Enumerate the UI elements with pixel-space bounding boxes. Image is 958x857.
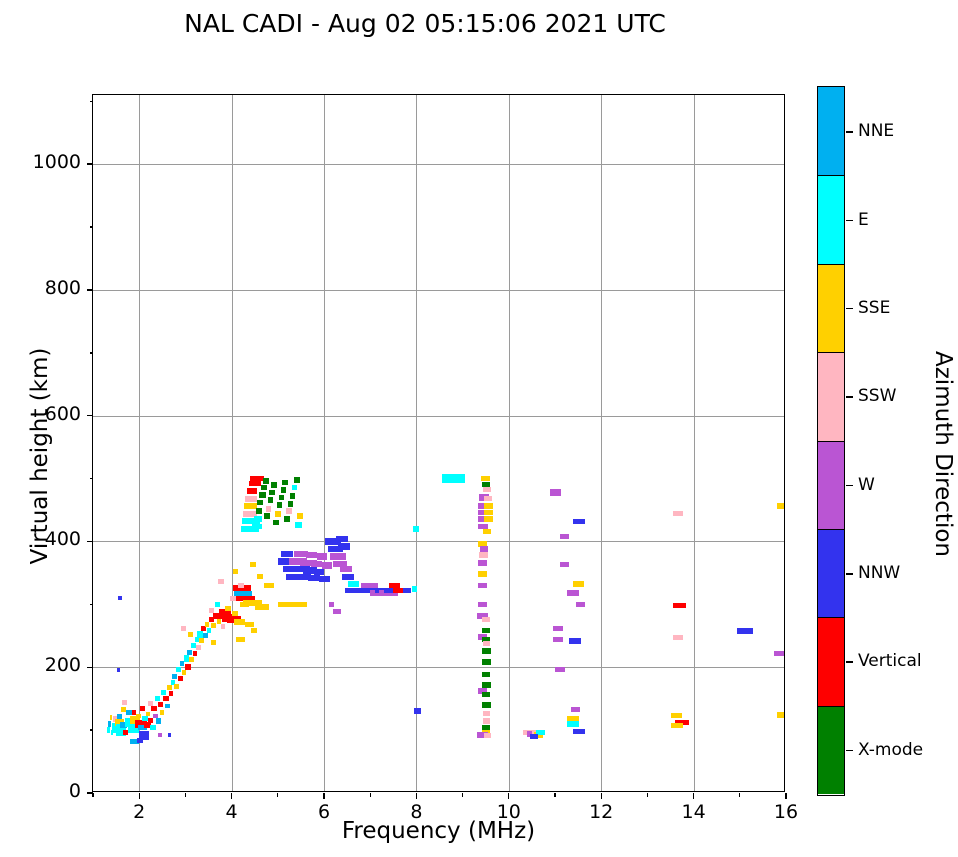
echo-mark — [266, 506, 272, 512]
x-tick-minor — [739, 793, 740, 797]
y-tick-minor — [90, 352, 94, 353]
echo-mark — [245, 622, 253, 627]
echo-mark — [333, 609, 340, 614]
x-tick-minor — [462, 793, 463, 797]
y-tick-minor — [90, 729, 94, 730]
echo-mark — [215, 602, 220, 607]
echo-mark — [232, 611, 238, 616]
echo-mark — [108, 721, 111, 727]
echo-mark — [567, 590, 579, 597]
echo-mark — [530, 734, 538, 740]
echo-mark — [255, 604, 269, 610]
echo-mark — [484, 733, 491, 738]
colorbar-divider — [818, 529, 844, 530]
colorbar-label: Azimuth Direction — [930, 294, 956, 614]
echo-mark — [281, 551, 293, 557]
echo-mark — [478, 560, 486, 566]
echo-mark — [444, 474, 462, 482]
y-tick-label: 0 — [11, 780, 81, 802]
echo-mark — [576, 602, 585, 607]
echo-mark — [567, 721, 579, 727]
echo-mark — [671, 713, 682, 718]
y-tick — [87, 163, 93, 164]
echo-mark — [233, 569, 239, 574]
ionogram-page: NAL CADI - Aug 02 05:15:06 2021 UTC 2468… — [0, 0, 958, 857]
echo-mark — [573, 729, 584, 734]
echo-mark — [160, 710, 165, 714]
echo-mark — [273, 520, 279, 526]
colorbar-label-sse: SSE — [858, 298, 890, 318]
echo-mark — [483, 529, 491, 535]
colorbar-tick — [846, 573, 853, 575]
page-title: NAL CADI - Aug 02 05:15:06 2021 UTC — [0, 9, 850, 38]
echo-mark — [403, 588, 411, 594]
colorbar-label-nnw: NNW — [858, 563, 900, 583]
echo-mark — [282, 480, 288, 486]
echo-mark — [156, 718, 162, 724]
echo-mark — [163, 696, 169, 701]
x-tick-minor — [554, 793, 555, 797]
x-tick — [231, 793, 232, 799]
x-tick — [601, 793, 602, 799]
echo-mark — [191, 643, 196, 648]
echo-mark — [774, 651, 784, 657]
echo-mark — [221, 624, 226, 629]
echo-mark — [480, 546, 488, 552]
y-axis-label: Virtual height (km) — [27, 296, 53, 616]
echo-mark — [117, 714, 122, 719]
echo-mark — [247, 488, 257, 494]
echo-mark — [238, 583, 244, 588]
echo-mark — [482, 659, 491, 665]
plot-area: 24681012141602004006008001000 — [92, 94, 785, 792]
echo-mark — [673, 635, 683, 640]
echo-mark — [482, 682, 491, 688]
colorbar-segment-vertical — [818, 617, 844, 705]
y-tick-label: 1000 — [11, 151, 81, 173]
x-axis-label: Frequency (MHz) — [92, 818, 785, 844]
echo-mark — [338, 543, 350, 549]
echo-mark — [176, 667, 181, 672]
y-tick — [87, 541, 93, 542]
colorbar-segment-nne — [818, 87, 844, 175]
y-tick — [87, 667, 93, 668]
echo-mark — [185, 664, 191, 670]
echo-mark — [158, 733, 163, 737]
colorbar-divider — [818, 352, 844, 353]
echo-mark — [478, 571, 486, 577]
colorbar-label-x-mode: X-mode — [858, 740, 923, 760]
echo-mark — [673, 511, 683, 516]
echo-mark — [264, 583, 274, 588]
colorbar-label-w: W — [858, 475, 875, 495]
echo-mark — [314, 569, 324, 575]
echo-mark — [205, 622, 210, 627]
echo-mark — [340, 566, 352, 572]
echo-mark — [737, 628, 753, 634]
colorbar-tick — [846, 661, 853, 663]
colorbar-divider — [818, 617, 844, 618]
echo-mark — [261, 485, 267, 491]
echo-mark — [188, 632, 194, 637]
echo-mark — [118, 596, 121, 600]
echo-mark — [271, 482, 277, 488]
echo-mark — [483, 711, 490, 716]
echo-mark — [482, 628, 490, 633]
x-tick — [139, 793, 140, 799]
colorbar-tick — [846, 396, 853, 398]
echo-mark — [295, 522, 301, 528]
echo-mark — [336, 536, 348, 542]
echo-mark — [168, 733, 171, 737]
echo-mark — [178, 676, 183, 681]
y-tick-minor — [90, 226, 94, 227]
echo-mark — [484, 516, 493, 522]
echo-mark — [281, 487, 287, 493]
echo-mark — [671, 723, 682, 728]
echo-mark — [278, 602, 292, 608]
echo-mark — [413, 526, 419, 532]
colorbar-divider — [818, 441, 844, 442]
echo-mark — [294, 477, 300, 483]
echo-mark — [483, 718, 490, 724]
echo-mark — [484, 496, 492, 501]
echo-mark — [329, 602, 335, 607]
y-tick-minor — [90, 101, 94, 102]
x-tick-minor — [277, 793, 278, 797]
echo-mark — [571, 707, 580, 712]
echo-mark — [319, 576, 329, 582]
colorbar-segment-ssw — [818, 352, 844, 440]
echo-mark — [777, 712, 784, 718]
echo-mark — [482, 617, 490, 622]
colorbar-tick — [846, 308, 853, 310]
echo-scatter-canvas — [93, 95, 784, 791]
echo-mark — [288, 501, 294, 507]
x-tick — [416, 793, 417, 799]
y-tick-minor — [90, 604, 94, 605]
echo-mark — [478, 583, 486, 589]
colorbar-segment-x-mode — [818, 706, 844, 794]
x-tick — [785, 793, 786, 799]
echo-mark — [284, 516, 290, 522]
echo-mark — [110, 715, 113, 721]
echo-mark — [199, 638, 204, 643]
echo-mark — [268, 497, 274, 503]
echo-mark — [244, 503, 257, 509]
echo-mark — [484, 510, 493, 516]
echo-mark — [189, 657, 194, 662]
y-tick — [87, 289, 93, 290]
echo-mark — [317, 553, 327, 559]
echo-mark — [482, 648, 491, 654]
colorbar-segment-nnw — [818, 529, 844, 617]
echo-mark — [203, 633, 208, 638]
echo-mark — [322, 562, 332, 568]
x-tick-minor — [370, 793, 371, 797]
echo-mark — [483, 641, 490, 646]
echo-mark — [155, 696, 160, 701]
echo-mark — [158, 702, 164, 707]
colorbar-segment-e — [818, 175, 844, 263]
colorbar-divider — [818, 175, 844, 176]
echo-mark — [256, 508, 262, 514]
echo-mark — [236, 637, 244, 642]
echo-mark — [151, 706, 157, 711]
echo-mark — [292, 602, 308, 608]
colorbar-divider — [818, 264, 844, 265]
echo-mark — [553, 637, 563, 642]
echo-mark — [250, 562, 256, 567]
echo-mark — [479, 552, 487, 558]
echo-mark — [483, 487, 491, 492]
echo-mark — [482, 672, 490, 677]
echo-mark — [560, 534, 569, 539]
echo-mark — [330, 553, 346, 559]
colorbar-segment-sse — [818, 264, 844, 352]
echo-mark — [348, 581, 359, 587]
echo-mark — [234, 619, 245, 625]
x-tick-minor — [185, 793, 186, 797]
echo-mark — [777, 503, 784, 509]
echo-mark — [211, 623, 216, 628]
echo-mark — [342, 574, 354, 580]
echo-mark — [553, 626, 563, 631]
echo-mark — [137, 738, 143, 743]
x-tick-minor — [647, 793, 648, 797]
echo-mark — [573, 519, 584, 524]
echo-mark — [275, 511, 281, 517]
echo-mark — [218, 579, 224, 584]
echo-mark — [117, 668, 120, 672]
colorbar-divider — [818, 706, 844, 707]
echo-mark — [569, 638, 581, 644]
echo-mark — [297, 513, 303, 519]
echo-mark — [478, 602, 486, 608]
y-tick — [87, 792, 93, 793]
echo-mark — [277, 502, 283, 508]
azimuth-colorbar: NNEESSESSWWNNWVerticalX-mode — [817, 86, 845, 796]
echo-mark — [187, 650, 192, 655]
echo-mark — [279, 495, 285, 501]
echo-mark — [482, 692, 490, 697]
echo-mark — [250, 476, 264, 482]
echo-mark — [136, 714, 141, 718]
echo-mark — [252, 524, 262, 530]
echo-mark — [161, 690, 166, 695]
echo-mark — [122, 700, 128, 705]
colorbar-tick — [846, 750, 853, 752]
echo-mark — [172, 674, 177, 679]
echo-mark — [251, 628, 257, 633]
echo-mark — [225, 606, 231, 611]
colorbar-label-ssw: SSW — [858, 386, 896, 406]
echo-mark — [140, 706, 145, 711]
echo-mark — [249, 481, 261, 487]
echo-mark — [573, 581, 583, 587]
colorbar-tick — [846, 485, 853, 487]
echo-mark — [211, 640, 217, 645]
echo-mark — [196, 645, 201, 650]
echo-mark — [263, 478, 269, 484]
echo-mark — [555, 667, 565, 672]
echo-mark — [254, 516, 262, 522]
y-tick-minor — [90, 478, 94, 479]
colorbar-label-vertical: Vertical — [858, 651, 922, 671]
echo-mark — [412, 586, 418, 592]
echo-mark — [259, 492, 265, 498]
echo-mark — [269, 490, 275, 496]
echo-mark — [165, 704, 170, 708]
x-tick — [693, 793, 694, 799]
echo-mark — [481, 476, 490, 482]
echo-mark — [414, 708, 420, 714]
echo-mark — [174, 684, 179, 689]
x-tick — [323, 793, 324, 799]
echo-mark — [182, 670, 187, 675]
echo-mark — [290, 493, 296, 499]
colorbar-label-nne: NNE — [858, 121, 894, 141]
echo-mark — [264, 513, 270, 519]
echo-mark — [257, 574, 263, 579]
x-tick — [508, 793, 509, 799]
echo-mark — [484, 503, 493, 509]
echo-mark — [150, 725, 156, 730]
colorbar-segment-w — [818, 441, 844, 529]
echo-mark — [146, 712, 151, 716]
echo-mark — [107, 727, 110, 733]
echo-mark — [311, 561, 322, 567]
colorbar-tick — [846, 131, 853, 133]
echo-mark — [257, 500, 263, 506]
echo-mark — [167, 685, 172, 690]
echo-mark — [169, 691, 174, 696]
y-tick-label: 200 — [11, 654, 81, 676]
echo-mark — [245, 496, 257, 502]
colorbar-tick — [846, 220, 853, 222]
echo-mark — [560, 562, 569, 567]
echo-mark — [306, 552, 317, 558]
echo-mark — [550, 489, 560, 496]
echo-mark — [180, 661, 185, 666]
echo-mark — [286, 508, 292, 514]
echo-mark — [193, 651, 198, 656]
echo-mark — [292, 485, 298, 491]
echo-mark — [207, 628, 212, 633]
y-tick — [87, 415, 93, 416]
colorbar-label-e: E — [858, 210, 869, 230]
echo-mark — [482, 702, 491, 708]
echo-mark — [181, 626, 187, 631]
echo-mark — [673, 603, 686, 609]
